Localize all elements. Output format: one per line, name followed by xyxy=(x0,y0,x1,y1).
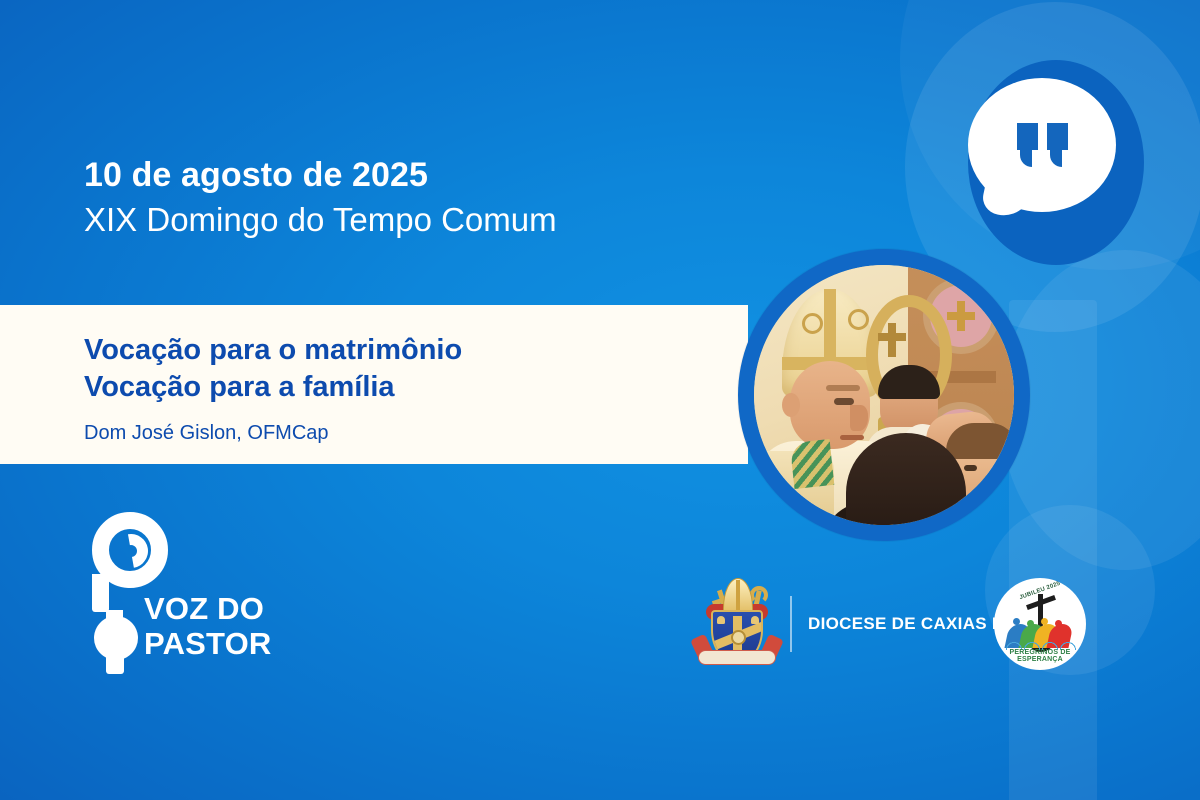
jubilee-bottom-text: PEREGRINOS DE ESPERANÇA xyxy=(994,649,1086,663)
liturgical-day: XIX Domingo do Tempo Comum xyxy=(84,200,557,240)
jubilee-figure-4-head xyxy=(1055,620,1062,627)
voz-do-pastor-wordmark: VOZ DO PASTOR xyxy=(144,592,272,661)
quote-glyph-left xyxy=(1017,123,1038,167)
crosier-foot xyxy=(106,652,124,674)
coat-of-arms-icon xyxy=(694,578,780,670)
speech-bubble xyxy=(968,78,1116,212)
logo-line-2: PASTOR xyxy=(144,627,272,662)
background-crosier-blob-mid xyxy=(1000,250,1200,570)
header-block: 10 de agosto de 2025 XIX Domingo do Temp… xyxy=(84,155,557,240)
photo-child-eye xyxy=(964,465,977,471)
quotation-marks-icon xyxy=(968,78,1116,212)
voz-do-pastor-logo: VOZ DO PASTOR xyxy=(84,512,304,672)
title-banner-content: Vocação para o matrimônio Vocação para a… xyxy=(84,332,462,445)
crosier-stem xyxy=(92,574,109,612)
diocese-divider xyxy=(790,596,792,652)
photo-bishop-eye xyxy=(834,398,854,405)
jubilee-2025-logo: JUBILEU 2025 PEREGRINOS DE ESPERANÇA xyxy=(994,578,1086,670)
voz-do-pastor-poster: 10 de agosto de 2025 XIX Domingo do Temp… xyxy=(0,0,1200,800)
author-name: Dom José Gislon, OFMCap xyxy=(84,422,462,445)
jubilee-figure-1-head xyxy=(1013,618,1020,625)
jubilee-figure-3-head xyxy=(1041,618,1048,625)
coa-motto-ribbon xyxy=(698,650,776,665)
title-banner: Vocação para o matrimônio Vocação para a… xyxy=(0,305,748,464)
coa-center-emblem xyxy=(731,630,746,645)
photo-bishop-brow xyxy=(826,385,860,391)
photo-crosier-cross-h xyxy=(878,333,906,341)
photo-circle xyxy=(738,249,1030,541)
jubilee-figure-2-head xyxy=(1027,620,1034,627)
photo-bishop-stole xyxy=(790,439,835,489)
coa-fleur-1 xyxy=(717,616,725,624)
photo-bishop-nose xyxy=(850,405,868,431)
photo-bishop-mouth xyxy=(840,435,864,440)
coa-fleur-2 xyxy=(751,616,759,624)
photo-child-hair xyxy=(946,423,1014,459)
title-line-2: Vocação para a família xyxy=(84,369,462,406)
logo-line-1: VOZ DO xyxy=(144,592,272,627)
photo-mitre-ornament-2 xyxy=(848,309,869,330)
coa-mitre-stripe xyxy=(736,580,740,612)
photo-image xyxy=(754,265,1014,525)
title-line-1: Vocação para o matrimônio xyxy=(84,332,462,369)
quote-glyph-right xyxy=(1047,123,1068,167)
photo-bishop-ear xyxy=(782,393,800,417)
publication-date: 10 de agosto de 2025 xyxy=(84,155,557,195)
photo-mitre-ornament-1 xyxy=(802,313,823,334)
